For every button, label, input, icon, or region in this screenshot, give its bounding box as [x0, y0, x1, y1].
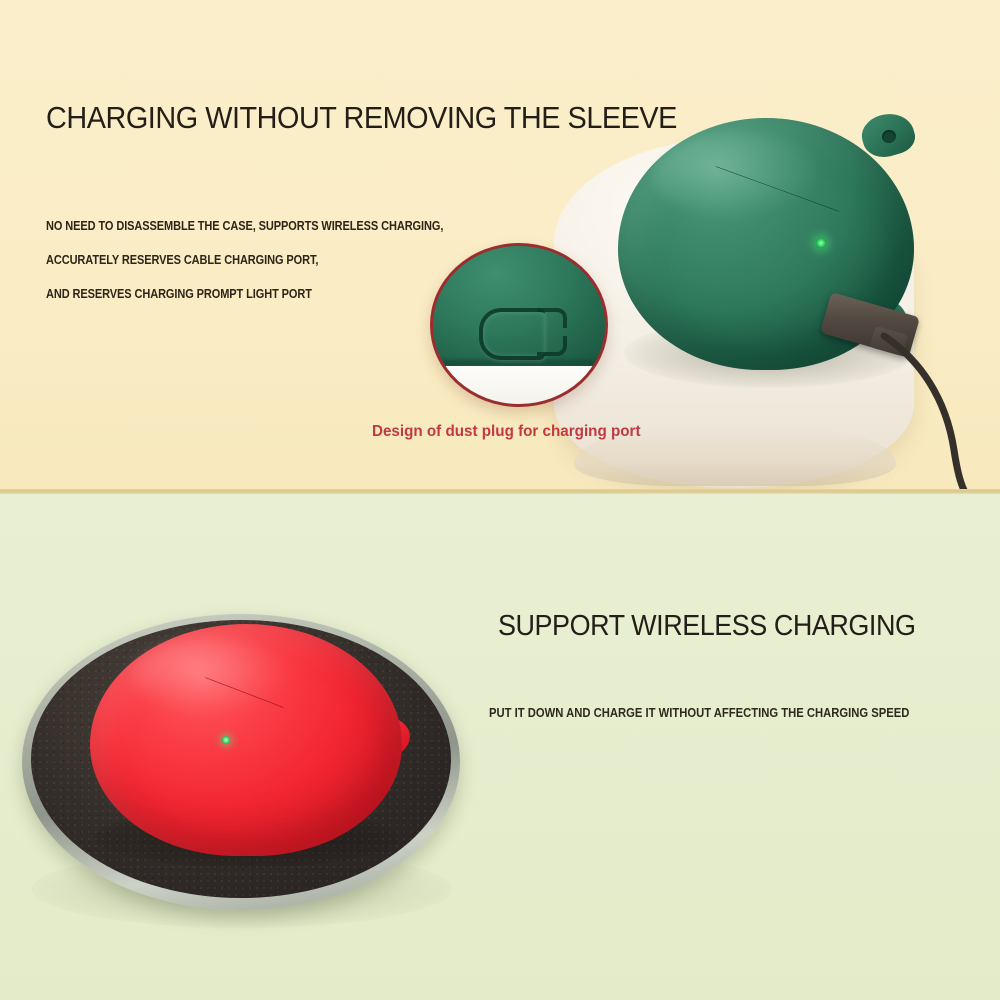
callout-background-surface: [430, 366, 608, 407]
red-case-seam-slit: [204, 668, 288, 690]
top-panel-headline: CHARGING WITHOUT REMOVING THE SLEEVE: [46, 100, 677, 136]
dust-plug-flap-tail-top: [537, 308, 567, 328]
dust-plug-caption: Design of dust plug for charging port: [372, 423, 641, 441]
red-earbud-case: [82, 620, 422, 870]
top-panel-body-line-2: ACCURATELY RESERVES CABLE CHARGING PORT,: [46, 253, 318, 267]
dust-plug-flap-icon: [479, 308, 545, 360]
top-panel-body-line-1: NO NEED TO DISASSEMBLE THE CASE, SUPPORT…: [46, 219, 443, 233]
green-case-seam-slit: [714, 152, 846, 186]
dust-plug-flap-tail-bottom: [537, 336, 567, 356]
carabiner-loop-icon: [862, 114, 918, 160]
charging-led-indicator: [816, 238, 826, 248]
charging-led-indicator: [222, 736, 230, 744]
product-infographic: CHARGING WITHOUT REMOVING THE SLEEVE NO …: [0, 0, 1000, 1000]
top-panel-body-line-3: AND RESERVES CHARGING PROMPT LIGHT PORT: [46, 287, 312, 301]
dust-plug-callout: [430, 243, 608, 407]
usb-cable: [880, 330, 1000, 500]
bottom-panel-subtext: PUT IT DOWN AND CHARGE IT WITHOUT AFFECT…: [489, 706, 909, 720]
top-panel: CHARGING WITHOUT REMOVING THE SLEEVE NO …: [0, 0, 1000, 492]
bottom-panel-headline: SUPPORT WIRELESS CHARGING: [498, 610, 915, 643]
